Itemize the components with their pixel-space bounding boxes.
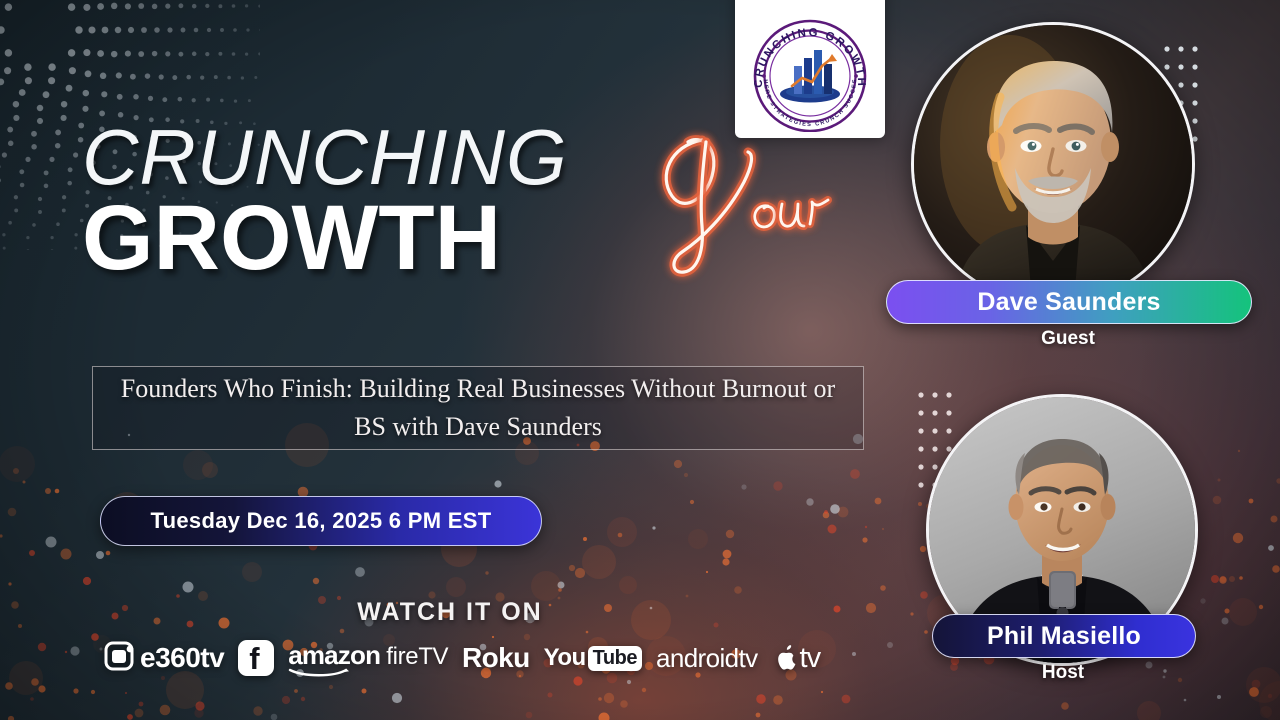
platform-amazon-firetv[interactable]: amazon fire TV — [288, 640, 448, 677]
apple-tv-label: tv — [800, 642, 821, 675]
e360tv-icon — [104, 641, 138, 675]
platform-youtube[interactable]: You Tube — [544, 644, 642, 672]
schedule-pill: Tuesday Dec 16, 2025 6 PM EST — [100, 496, 542, 546]
schedule-datetime: Tuesday Dec 16, 2025 6 PM EST — [151, 508, 492, 534]
platform-roku[interactable]: Roku — [462, 642, 530, 674]
avatar-dave-saunders — [911, 22, 1195, 306]
tv-wordmark: TV — [418, 643, 448, 671]
youtube-tube-label: Tube — [588, 646, 642, 671]
platform-logo-row: e360tv f amazon fire TV Roku You Tube an… — [104, 636, 904, 680]
episode-title-box: Founders Who Finish: Building Real Busin… — [92, 366, 864, 450]
platform-facebook[interactable]: f — [238, 640, 274, 676]
guest-name: Dave Saunders — [977, 288, 1160, 317]
name-pill-phil-masiello: Phil Masiello — [932, 614, 1196, 658]
fire-wordmark: fire — [386, 643, 418, 671]
watch-it-on-heading: WATCH IT ON — [0, 598, 900, 627]
roku-label: Roku — [462, 642, 530, 674]
amazon-smile-icon — [288, 668, 350, 677]
e360tv-label: e360tv — [140, 642, 224, 674]
youtube-you-label: You — [544, 644, 586, 672]
androidtv-label: androidtv — [656, 643, 758, 674]
promo-graphic: CRUNCHING GROWTH WHERE STRATEGIES CRUNCH… — [0, 0, 1280, 720]
platform-apple-tv[interactable]: tv — [772, 642, 821, 675]
your-script-word — [640, 120, 880, 295]
platform-e360tv[interactable]: e360tv — [104, 641, 224, 675]
apple-icon — [772, 643, 798, 673]
guest-photo — [914, 25, 1192, 303]
amazon-wordmark: amazon — [288, 640, 380, 671]
guest-role: Guest — [886, 328, 1250, 350]
crunching-growth-logo: CRUNCHING GROWTH WHERE STRATEGIES CRUNCH… — [744, 14, 876, 132]
episode-title: Founders Who Finish: Building Real Busin… — [93, 370, 863, 446]
name-pill-dave-saunders: Dave Saunders — [886, 280, 1252, 324]
host-role: Host — [932, 662, 1194, 684]
platform-androidtv[interactable]: androidtv — [656, 643, 758, 674]
facebook-icon: f — [238, 640, 274, 676]
host-name: Phil Masiello — [987, 622, 1141, 651]
